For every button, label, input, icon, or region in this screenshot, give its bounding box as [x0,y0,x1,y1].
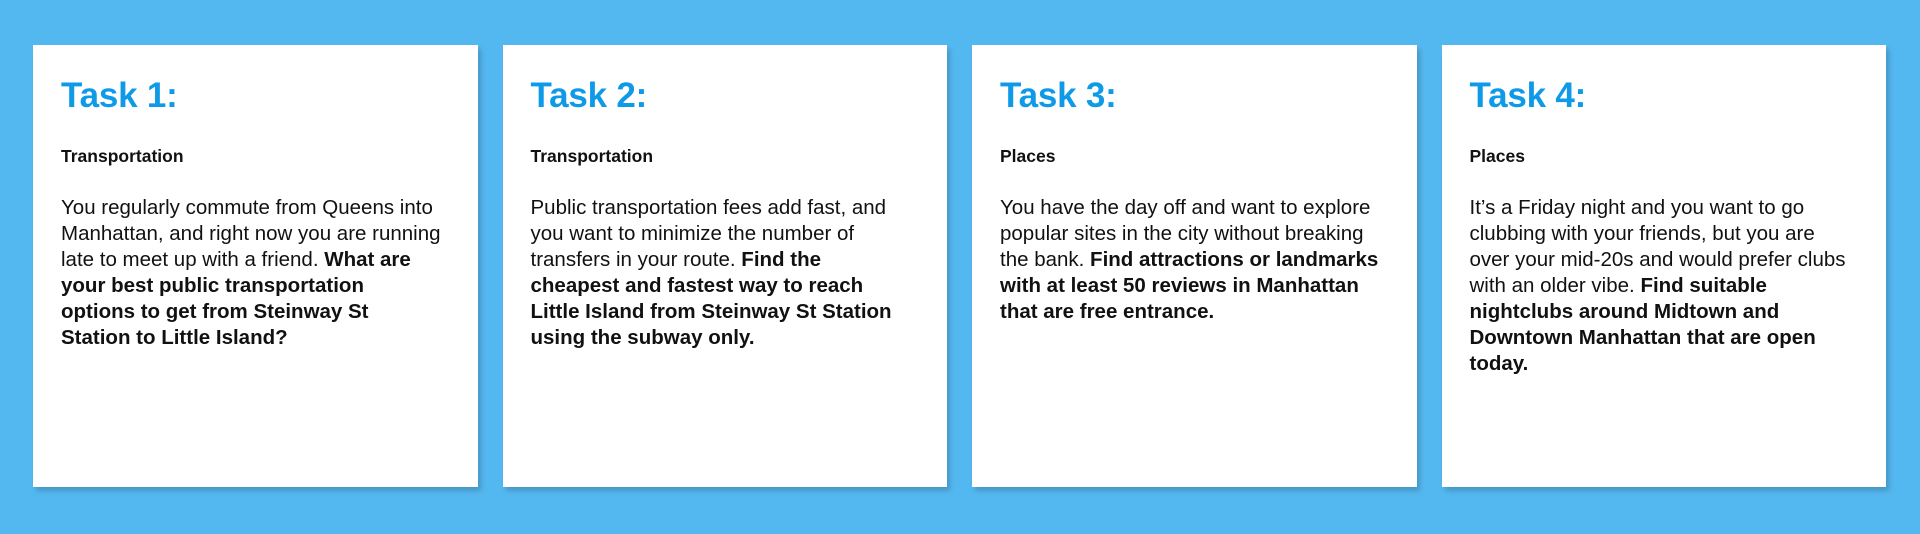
task-card-title: Task 1: [61,77,443,116]
task-card-title: Task 2: [531,77,913,116]
task-card-title: Task 3: [1000,77,1382,116]
task-card-category: Transportation [531,146,913,167]
task-card-body-plain: Public transportation fees add fast, and… [531,196,887,271]
task-card-body: You have the day off and want to explore… [1000,195,1382,325]
task-card-1: Task 1: Transportation You regularly com… [33,45,478,487]
task-card-3: Task 3: Places You have the day off and … [972,45,1417,487]
task-card-4: Task 4: Places It’s a Friday night and y… [1442,45,1887,487]
task-card-category: Places [1000,146,1382,167]
task-card-body: It’s a Friday night and you want to go c… [1470,195,1852,377]
task-card-title: Task 4: [1470,77,1852,116]
task-card-2: Task 2: Transportation Public transporta… [503,45,948,487]
task-card-body: Public transportation fees add fast, and… [531,195,913,351]
task-card-category: Transportation [61,146,443,167]
task-cards-board: Task 1: Transportation You regularly com… [0,0,1920,534]
task-card-category: Places [1470,146,1852,167]
task-card-body: You regularly commute from Queens into M… [61,195,443,351]
